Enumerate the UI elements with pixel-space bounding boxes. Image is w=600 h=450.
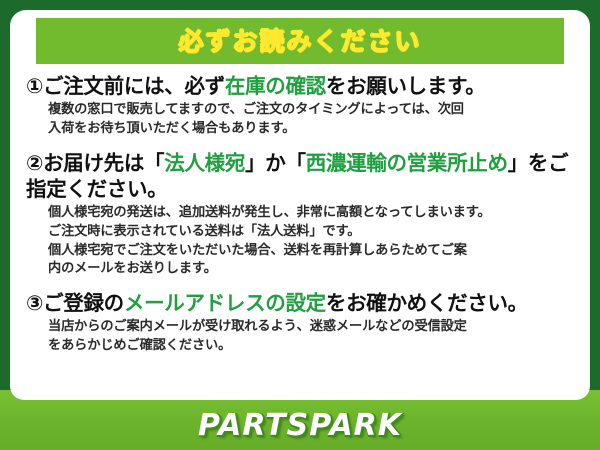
brand-logo: PARTSPARK <box>198 408 402 443</box>
notice-item-3-marker: ③ <box>26 291 43 315</box>
notice-item-2-heading-highlight-1: 法人様宛 <box>164 151 245 175</box>
notice-item-3-heading: ③ご登録のメールアドレスの設定をお確かめください。 <box>26 290 574 316</box>
notice-item-2-heading-part-3: 」か「 <box>245 151 306 175</box>
notice-item-3-body-line-1: 当店からのご案内メールが受け取れるよう、迷惑メールなどの受信設定 <box>48 318 574 337</box>
notice-item-1-heading-highlight: 在庫の確認 <box>225 74 326 98</box>
header-bar: 必ずお読みください <box>36 18 564 64</box>
notice-item-2-heading-part-1: お届け先は「 <box>43 151 164 175</box>
notice-banner: 必ずお読みください ①ご注文前には、必ず在庫の確認をお願いします。 複数の窓口で… <box>0 0 600 450</box>
notice-item-1: ①ご注文前には、必ず在庫の確認をお願いします。 複数の窓口で販売してますので、ご… <box>26 73 574 139</box>
notice-item-2-heading: ②お届け先は「法人様宛」か「西濃運輸の営業所止め」をご指定ください。 <box>26 150 574 202</box>
notice-item-3-heading-part-1: ご登録の <box>43 291 124 315</box>
notice-item-1-heading: ①ご注文前には、必ず在庫の確認をお願いします。 <box>26 73 574 99</box>
notice-item-2-body-line-2: ご注文時に表示されている送料は「法人送料」です。 <box>48 223 574 242</box>
notice-item-3-heading-part-3: をお確かめください。 <box>326 291 528 315</box>
notice-item-1-heading-part-1: ご注文前には、必ず <box>43 74 225 98</box>
notice-item-2-body-line-3: 個人様宅宛でご注文をいただいた場合、送料を再計算しあらためてご案 <box>48 242 574 261</box>
notice-item-1-heading-part-3: をお願いします。 <box>326 74 486 98</box>
notice-item-2: ②お届け先は「法人様宛」か「西濃運輸の営業所止め」をご指定ください。 個人様宅宛… <box>26 150 574 279</box>
notice-item-3-heading-highlight: メールアドレスの設定 <box>124 291 326 315</box>
notice-item-2-body-line-1: 個人様宅宛の発送は、追加送料が発生し、非常に高額となってしまいます。 <box>48 204 574 223</box>
notice-item-2-marker: ② <box>26 151 43 175</box>
notice-item-3: ③ご登録のメールアドレスの設定をお確かめください。 当店からのご案内メールが受け… <box>26 290 574 356</box>
footer: PARTSPARK <box>0 400 600 450</box>
white-card: 必ずお読みください ①ご注文前には、必ず在庫の確認をお願いします。 複数の窓口で… <box>10 10 590 400</box>
notice-item-2-body-line-4: 内のメールをお送りします。 <box>48 260 574 279</box>
page-title: 必ずお読みください <box>178 29 421 54</box>
notice-body: ①ご注文前には、必ず在庫の確認をお願いします。 複数の窓口で販売してますので、ご… <box>24 64 576 356</box>
notice-item-1-body-line-1: 複数の窓口で販売してますので、ご注文のタイミングによっては、次回 <box>48 101 574 120</box>
notice-item-1-marker: ① <box>26 74 43 98</box>
notice-item-3-body: 当店からのご案内メールが受け取れるよう、迷惑メールなどの受信設定 をあらかじめご… <box>26 318 574 355</box>
notice-item-2-body: 個人様宅宛の発送は、追加送料が発生し、非常に高額となってしまいます。 ご注文時に… <box>26 204 574 279</box>
notice-item-1-body: 複数の窓口で販売してますので、ご注文のタイミングによっては、次回 入荷をお待ち頂… <box>26 101 574 138</box>
notice-item-2-heading-highlight-2: 西濃運輸の営業所止め <box>306 151 508 175</box>
notice-item-2-heading-part-5: 」 <box>508 151 528 175</box>
notice-item-1-body-line-2: 入荷をお待ち頂いただく場合もあります。 <box>48 120 574 139</box>
notice-item-3-body-line-2: をあらかじめご確認ください。 <box>48 337 574 356</box>
